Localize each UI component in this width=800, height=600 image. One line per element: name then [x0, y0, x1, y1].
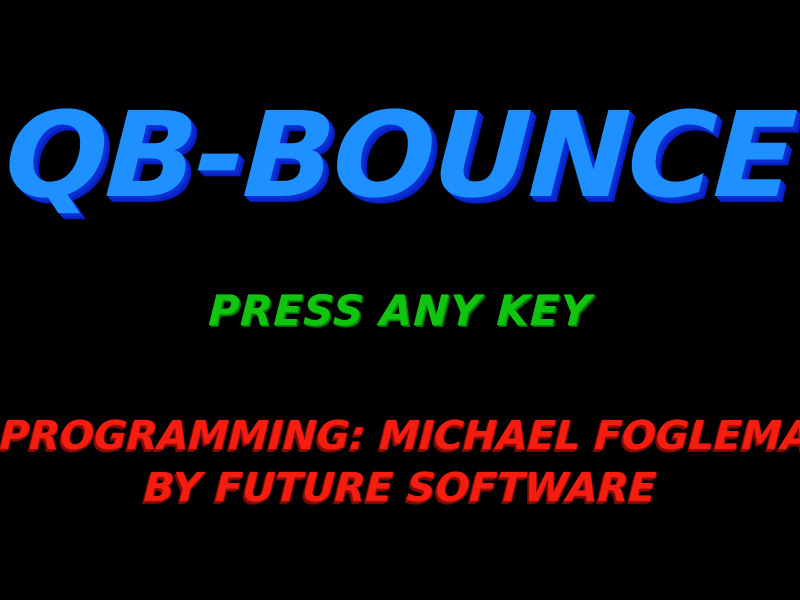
game-title: QB-BOUNCE [0, 96, 800, 214]
credit-publisher-line: BY FUTURE SOFTWARE [0, 468, 800, 508]
game-splash-screen[interactable]: QB-BOUNCE PRESS ANY KEY PROGRAMMING: MIC… [0, 0, 800, 600]
press-any-key-prompt[interactable]: PRESS ANY KEY [0, 290, 800, 332]
credit-programming-line: PROGRAMMING: MICHAEL FOGLEMAN [0, 416, 800, 456]
